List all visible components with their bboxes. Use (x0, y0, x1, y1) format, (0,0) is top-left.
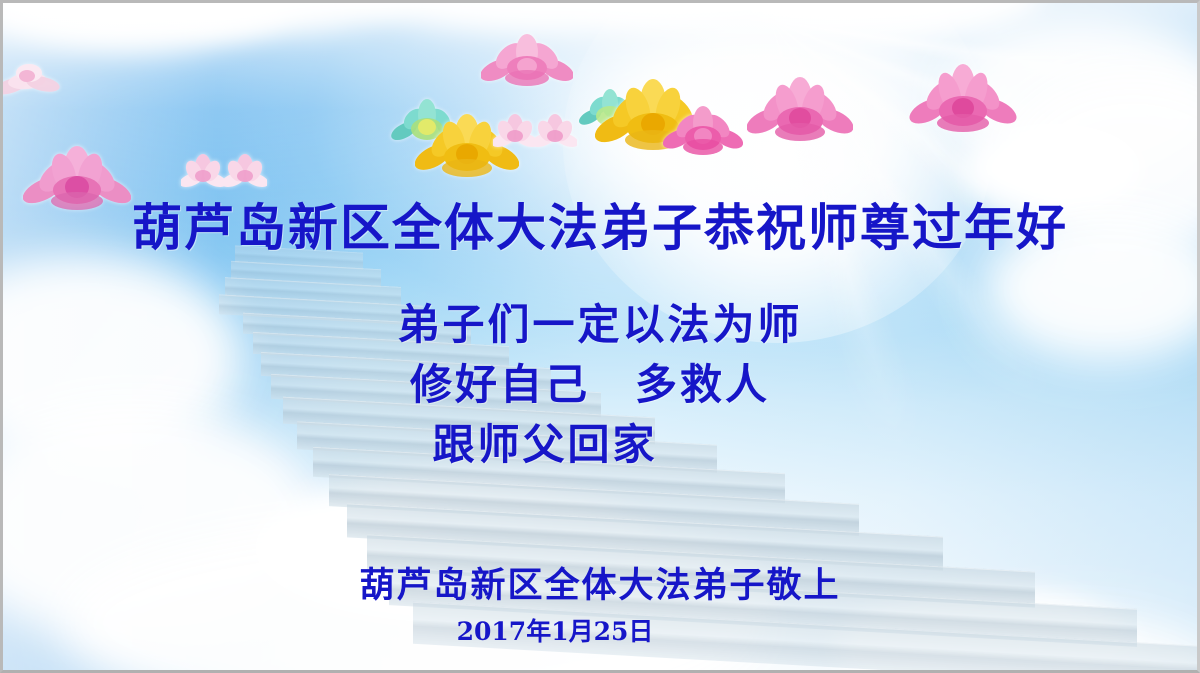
date-line: 2017年1月25日 (3, 617, 1197, 647)
page-title: 葫芦岛新区全体大法弟子恭祝师尊过年好 (3, 199, 1197, 257)
verse-line-2: 修好自己 多救人 (3, 359, 1197, 411)
verse-line-3: 跟师父回家 (3, 419, 1197, 471)
greeting-card: 葫芦岛新区全体大法弟子恭祝师尊过年好 弟子们一定以法为师 修好自己 多救人 跟师… (0, 0, 1200, 673)
signature-line: 葫芦岛新区全体大法弟子敬上 (3, 565, 1197, 607)
verse-line-1: 弟子们一定以法为师 (3, 299, 1197, 351)
